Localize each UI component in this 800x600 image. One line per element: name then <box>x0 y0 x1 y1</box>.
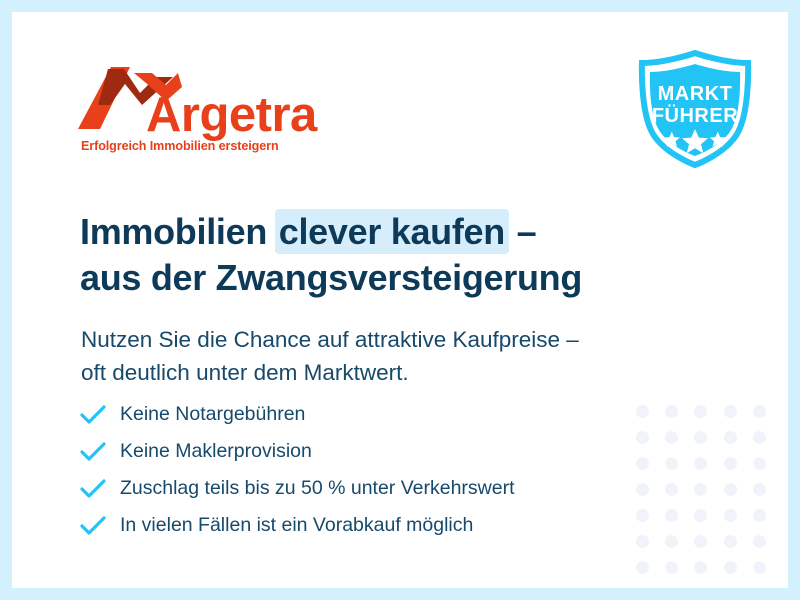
page-headline: Immobilien clever kaufen – aus der Zwang… <box>80 209 740 300</box>
benefits-checklist: Keine NotargebührenKeine Maklerprovision… <box>80 397 680 545</box>
subtitle-line-2: oft deutlich unter dem Marktwert. <box>81 356 721 389</box>
brand-logo[interactable]: Argetra Erfolgreich Immobilien ersteiger… <box>78 67 308 157</box>
headline-line-2: aus der Zwangsversteigerung <box>80 255 740 301</box>
logo-wordmark: Argetra <box>146 91 317 140</box>
decorative-dot <box>636 561 649 574</box>
headline-text-after: – <box>507 211 536 252</box>
decorative-dot <box>694 405 707 418</box>
decorative-dot <box>665 561 678 574</box>
check-icon <box>80 441 106 463</box>
decorative-dot <box>724 431 737 444</box>
decorative-dot <box>724 483 737 496</box>
decorative-dot <box>753 431 766 444</box>
subtitle-line-1: Nutzen Sie die Chance auf attraktive Kau… <box>81 323 721 356</box>
badge-line2: FÜHRER <box>652 104 738 127</box>
decorative-dot <box>694 561 707 574</box>
headline-text-before: Immobilien <box>80 211 277 252</box>
decorative-dot <box>753 509 766 522</box>
content-card: Argetra Erfolgreich Immobilien ersteiger… <box>12 12 788 588</box>
checklist-item-label: Keine Notargebühren <box>120 405 305 425</box>
decorative-dot <box>724 457 737 470</box>
decorative-dot <box>724 535 737 548</box>
decorative-dot <box>753 535 766 548</box>
checklist-item-label: In vielen Fällen ist ein Vorabkauf mögli… <box>120 516 473 536</box>
decorative-dot <box>753 457 766 470</box>
checklist-item: Keine Notargebühren <box>80 397 680 432</box>
badge-line1: MARKT <box>658 83 733 105</box>
checklist-item: Zuschlag teils bis zu 50 % unter Verkehr… <box>80 471 680 506</box>
headline-line-1: Immobilien clever kaufen – <box>80 209 740 255</box>
decorative-dot <box>753 483 766 496</box>
decorative-dot <box>694 431 707 444</box>
check-icon <box>80 478 106 500</box>
headline-highlight: clever kaufen <box>275 209 509 254</box>
decorative-dot <box>724 405 737 418</box>
promo-banner: Argetra Erfolgreich Immobilien ersteiger… <box>0 0 800 600</box>
market-leader-badge: MARKT FÜHRER <box>632 50 758 168</box>
check-icon <box>80 515 106 537</box>
decorative-dot <box>753 405 766 418</box>
page-subtitle: Nutzen Sie die Chance auf attraktive Kau… <box>81 323 721 390</box>
decorative-dot <box>724 561 737 574</box>
checklist-item: Keine Maklerprovision <box>80 434 680 469</box>
decorative-dot <box>694 457 707 470</box>
check-icon <box>80 404 106 426</box>
decorative-dot <box>694 535 707 548</box>
checklist-item-label: Zuschlag teils bis zu 50 % unter Verkehr… <box>120 479 515 499</box>
checklist-item: In vielen Fällen ist ein Vorabkauf mögli… <box>80 508 680 543</box>
decorative-dot <box>694 509 707 522</box>
decorative-dot <box>753 561 766 574</box>
logo-tagline: Erfolgreich Immobilien ersteigern <box>81 139 279 153</box>
decorative-dot <box>724 509 737 522</box>
decorative-dot <box>694 483 707 496</box>
checklist-item-label: Keine Maklerprovision <box>120 442 312 462</box>
